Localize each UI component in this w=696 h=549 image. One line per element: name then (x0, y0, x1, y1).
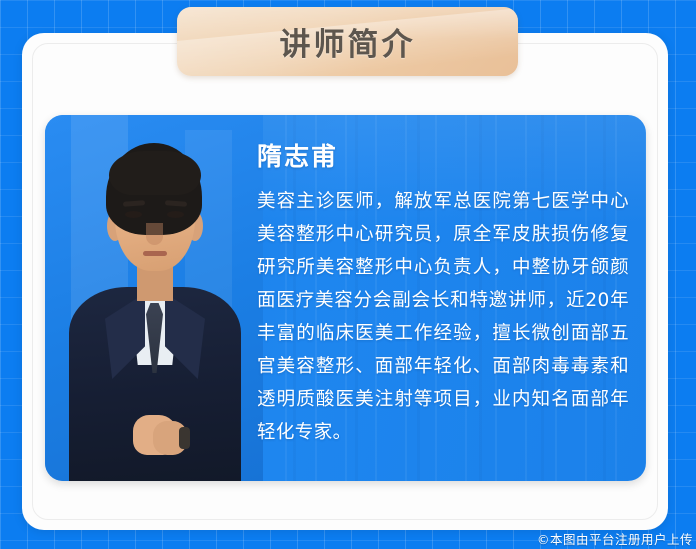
copyright-watermark: ©本图由平台注册用户上传 (537, 529, 693, 548)
section-title: 讲师简介 (177, 7, 518, 76)
instructor-name: 隋志甫 (257, 137, 629, 173)
portrait-eye-right (167, 211, 184, 218)
instructor-bio-text: 美容主诊医师，解放军总医院第七医学中心美容整形中心研究员，原全军皮肤损伤修复研究… (257, 185, 629, 449)
instructor-profile-card: 隋志甫 美容主诊医师，解放军总医院第七医学中心美容整形中心研究员，原全军皮肤损伤… (45, 115, 646, 481)
portrait-nose (146, 223, 163, 245)
poster-canvas: 讲师简介 (0, 0, 696, 549)
instructor-portrait-photo (45, 115, 263, 481)
section-title-ribbon: 讲师简介 (177, 7, 518, 76)
portrait-mouth (143, 251, 167, 256)
portrait-eye-left (125, 211, 142, 218)
instructor-bio-block: 隋志甫 美容主诊医师，解放军总医院第七医学中心美容整形中心研究员，原全军皮肤损伤… (257, 137, 629, 449)
portrait-wristwatch (179, 427, 190, 449)
portrait-hair-fringe (109, 151, 201, 195)
